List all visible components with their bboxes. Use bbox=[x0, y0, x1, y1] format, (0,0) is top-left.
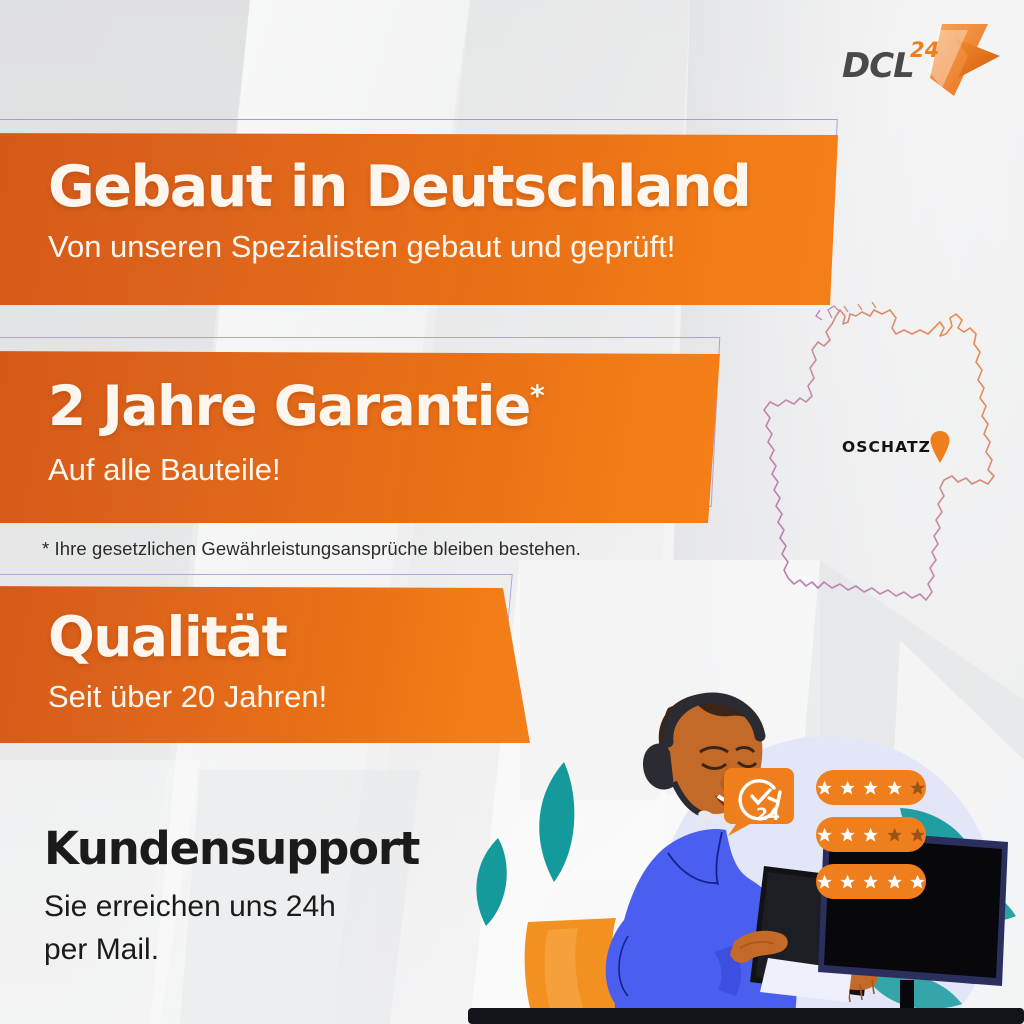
star-icon-filled bbox=[862, 777, 879, 799]
kundensupport-block: Kundensupport Sie erreichen uns 24h per … bbox=[44, 826, 419, 970]
germany-map-outline bbox=[744, 300, 1024, 660]
banner-headline: Qualität bbox=[48, 610, 327, 665]
star-icon-filled bbox=[862, 871, 879, 893]
star-icon-empty bbox=[886, 824, 903, 846]
banner-subline: Auf alle Bauteile! bbox=[48, 452, 543, 488]
badge-24-text: 24 bbox=[756, 805, 780, 825]
warranty-footnote: * Ihre gesetzlichen Gewährleistungsanspr… bbox=[42, 538, 581, 560]
banner-headline: 2 Jahre Garantie* bbox=[48, 379, 543, 434]
rating-row-1 bbox=[816, 770, 926, 805]
banner-subline: Seit über 20 Jahren! bbox=[48, 679, 327, 715]
logo-wordmark: DCL bbox=[842, 46, 914, 86]
dcl24-logo[interactable]: DCL 24 bbox=[838, 22, 1006, 98]
monitor-stand bbox=[900, 980, 914, 1010]
star-icon-filled bbox=[839, 777, 856, 799]
logo-superscript: 24 bbox=[910, 38, 939, 62]
city-label-oschatz: OSCHATZ bbox=[842, 438, 931, 456]
star-icon-filled bbox=[886, 777, 903, 799]
star-icon-filled bbox=[839, 871, 856, 893]
banner-text-block: Gebaut in Deutschland Von unseren Spezia… bbox=[48, 159, 750, 265]
star-icon-filled bbox=[839, 824, 856, 846]
banner-gebaut-in-deutschland: Gebaut in Deutschland Von unseren Spezia… bbox=[0, 133, 870, 305]
poster-canvas: DCL 24 Gebaut in Deutschland Von unseren… bbox=[0, 0, 1024, 1024]
support-headline: Kundensupport bbox=[44, 826, 419, 871]
banner-subline: Von unseren Spezialisten gebaut und gepr… bbox=[48, 229, 750, 265]
star-icon-empty bbox=[909, 777, 926, 799]
map-pin-icon[interactable] bbox=[928, 430, 952, 464]
support-line-1: Sie erreichen uns 24h bbox=[44, 887, 419, 928]
rating-row-3 bbox=[816, 864, 926, 899]
asterisk-marker: * bbox=[530, 379, 543, 413]
banner-text-block: Qualität Seit über 20 Jahren! bbox=[48, 610, 327, 715]
banner-text-block: 2 Jahre Garantie* Auf alle Bauteile! bbox=[48, 379, 543, 488]
support-line-2: per Mail. bbox=[44, 930, 419, 971]
support-agent-illustration bbox=[468, 690, 1024, 1024]
monitor-screen bbox=[824, 836, 1002, 978]
banner-headline: Gebaut in Deutschland bbox=[48, 159, 750, 216]
star-icon-filled bbox=[862, 824, 879, 846]
star-icon-filled bbox=[816, 824, 833, 846]
star-icon-empty bbox=[909, 824, 926, 846]
desk bbox=[468, 1008, 1024, 1024]
star-icon-filled bbox=[816, 871, 833, 893]
star-icon-filled bbox=[886, 871, 903, 893]
banner-headline-text: 2 Jahre Garantie bbox=[48, 374, 530, 438]
rating-row-2 bbox=[816, 817, 926, 852]
banner-2-jahre-garantie: 2 Jahre Garantie* Auf alle Bauteile! bbox=[0, 351, 760, 523]
star-icon-filled bbox=[909, 871, 926, 893]
star-icon-filled bbox=[816, 777, 833, 799]
clock-arrow-24-badge: 24 bbox=[724, 766, 796, 836]
